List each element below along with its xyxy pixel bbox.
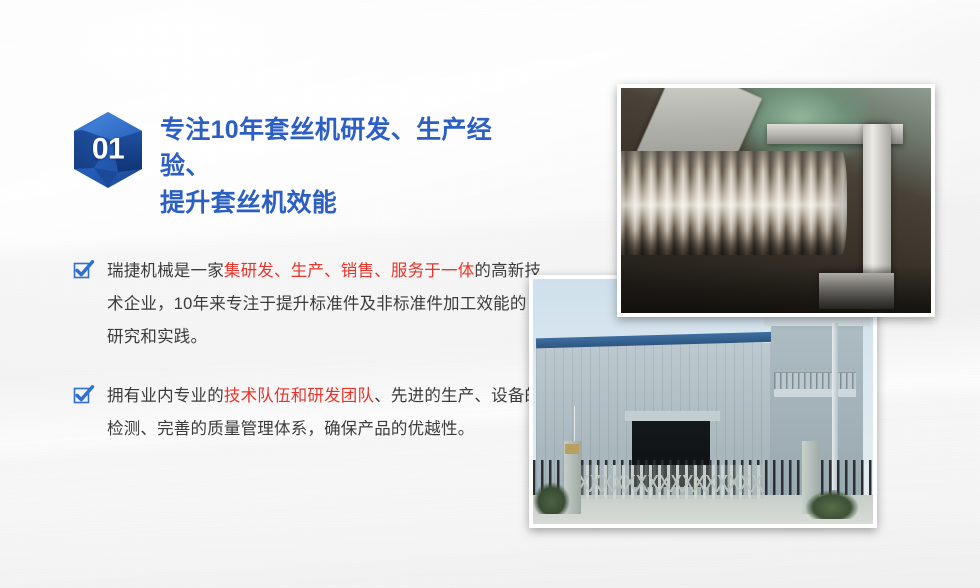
- list-item: 瑞捷机械是一家集研发、生产、销售、服务于一体的高新技术企业，10年来专注于提升标…: [72, 255, 542, 354]
- threaded-rod-measurement-photo: [617, 84, 935, 317]
- bullet-list: 瑞捷机械是一家集研发、生产、销售、服务于一体的高新技术企业，10年来专注于提升标…: [72, 255, 542, 446]
- page-title: 专注10年套丝机研发、生产经验、 提升套丝机效能: [160, 108, 542, 221]
- threaded-rod-scene: [621, 88, 931, 313]
- balcony-slab: [774, 389, 856, 396]
- banner-stage: 01 专注10年套丝机研发、生产经验、 提升套丝机效能 瑞捷机械是一家集研发、生…: [0, 0, 980, 588]
- badge-number: 01: [72, 132, 144, 166]
- checkbox-check-icon: [72, 384, 94, 406]
- text-plain: 瑞捷机械是一家: [107, 262, 224, 280]
- gate-lattice: [577, 475, 764, 492]
- content-column: 01 专注10年套丝机研发、生产经验、 提升套丝机效能 瑞捷机械是一家集研发、生…: [72, 108, 542, 446]
- list-item-text: 瑞捷机械是一家集研发、生产、销售、服务于一体的高新技术企业，10年来专注于提升标…: [107, 255, 542, 354]
- shrub-right: [805, 490, 859, 519]
- list-item: 拥有业内专业的技术队伍和研发团队、先进的生产、设备的检测、完善的质量管理体系，确…: [72, 380, 542, 446]
- text-highlight: 集研发、生产、销售、服务于一体: [224, 262, 475, 280]
- heading-row: 01 专注10年套丝机研发、生产经验、 提升套丝机效能: [72, 108, 542, 221]
- door-lintel: [625, 411, 720, 421]
- list-item-text: 拥有业内专业的技术队伍和研发团队、先进的生产、设备的检测、完善的质量管理体系，确…: [107, 380, 542, 446]
- checkbox-check-icon: [72, 259, 94, 281]
- flag-pole: [574, 406, 576, 445]
- text-highlight: 技术队伍和研发团队: [224, 387, 374, 405]
- shrub-left: [533, 482, 570, 514]
- hexagon-badge-icon: 01: [72, 110, 144, 190]
- gate-sign-plaque: [565, 444, 579, 454]
- machine-shadow: [621, 264, 931, 314]
- text-plain: 拥有业内专业的: [107, 387, 224, 405]
- threaded-rod: [617, 151, 847, 255]
